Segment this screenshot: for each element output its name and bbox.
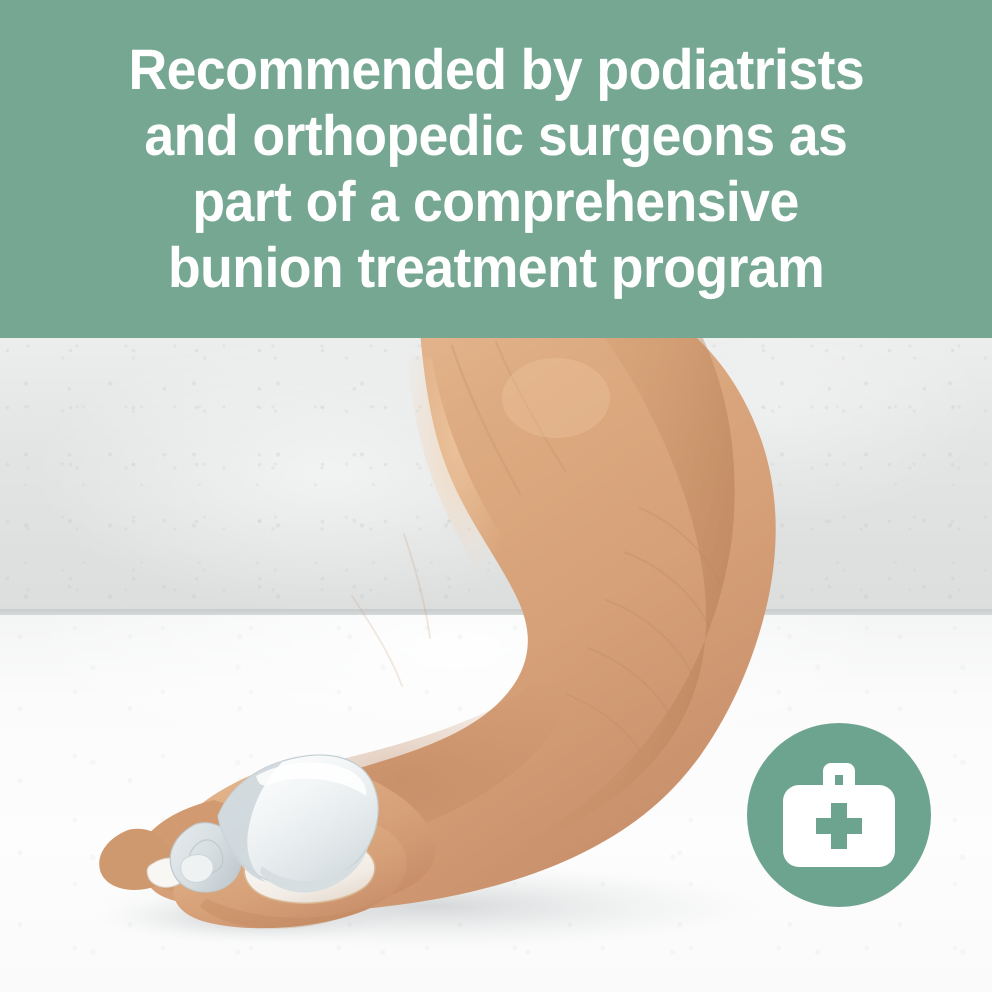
headline-line-1: Recommended by podiatrists xyxy=(128,37,864,103)
headline-banner: Recommended by podiatrists and orthopedi… xyxy=(0,0,992,338)
medical-bag-badge xyxy=(747,723,931,907)
product-image-canvas: Recommended by podiatrists and orthopedi… xyxy=(0,0,992,992)
toe-separator-tab xyxy=(181,855,214,883)
headline-line-2: and orthopedic surgeons as xyxy=(145,103,848,169)
medical-bag-icon xyxy=(783,763,895,867)
headline-line-3: part of a comprehensive xyxy=(193,169,799,235)
ankle-bone-highlight xyxy=(502,358,610,438)
headline-line-4: bunion treatment program xyxy=(168,235,824,301)
